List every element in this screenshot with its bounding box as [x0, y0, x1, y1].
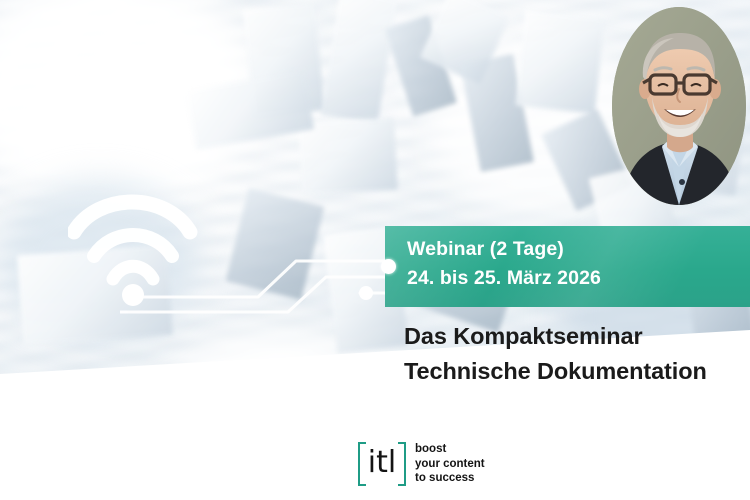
avatar [612, 7, 746, 205]
webinar-date-banner: Webinar (2 Tage) 24. bis 25. März 2026 [385, 226, 750, 307]
banner-line-webinar: Webinar (2 Tage) [407, 238, 564, 261]
logo-tagline-line-1: boost [415, 442, 485, 457]
logo-tagline-line-2: your content [415, 457, 485, 472]
paper-sheet [515, 10, 605, 114]
logo-tagline: boost your content to success [415, 442, 485, 486]
headline-line-2: Technische Dokumentation [404, 354, 744, 389]
logo-mark-brackets: itl [358, 442, 406, 486]
logo-wordmark: itl [358, 442, 406, 486]
webinar-promo-poster: Webinar (2 Tage) 24. bis 25. März 2026 D… [0, 0, 750, 500]
logo-tagline-line-3: to success [415, 471, 485, 486]
banner-connector-dot-icon [381, 259, 396, 274]
banner-line-date: 24. bis 25. März 2026 [407, 267, 601, 290]
itl-logo: itl boost your content to success [358, 442, 485, 486]
headline-line-1: Das Kompaktseminar [404, 319, 744, 354]
page-title: Das Kompaktseminar Technische Dokumentat… [404, 319, 744, 389]
